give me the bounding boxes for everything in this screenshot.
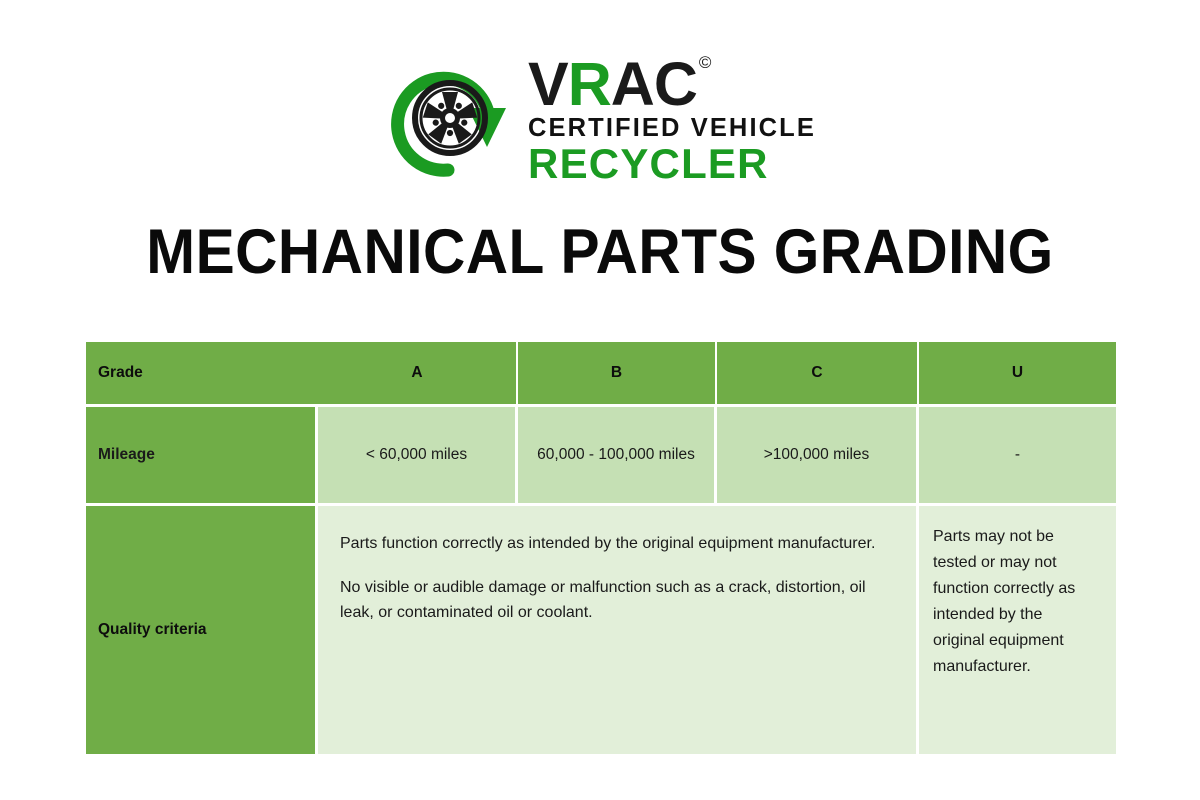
logo-wordmark-v: V [528,50,568,118]
quality-cell-u: Parts may not be tested or may not funct… [919,503,1116,754]
quality-paragraph-2: No visible or audible damage or malfunct… [340,576,894,625]
logo-wordmark-ac: AC [611,50,697,118]
header-cell-b: B [518,342,717,404]
mileage-cell-c: >100,000 miles [717,404,919,503]
logo-subtitle: RECYCLER [528,143,816,186]
row-label-mileage: Mileage [86,404,318,503]
table-row-mileage: Mileage < 60,000 miles 60,000 - 100,000 … [86,404,1116,503]
quality-paragraph-1: Parts function correctly as intended by … [340,532,894,556]
quality-cell-abc: Parts function correctly as intended by … [318,503,919,754]
brand-logo: VRAC© CERTIFIED VEHICLE RECYCLER [0,52,1200,186]
mileage-cell-b: 60,000 - 100,000 miles [518,404,717,503]
header-cell-c: C [717,342,919,404]
logo-wordmark-r: R [568,50,611,118]
header-cell-grade: Grade [86,342,318,404]
header-cell-u: U [919,342,1116,404]
logo-wordmark: VRAC© [528,56,816,114]
table-header-row: Grade A B C U [86,342,1116,404]
logo-tagline: CERTIFIED VEHICLE [528,115,816,142]
recycling-arrow-wheel-icon [384,52,514,184]
copyright-icon: © [699,53,711,72]
logo-inner: VRAC© CERTIFIED VEHICLE RECYCLER [384,52,816,186]
mechanical-parts-grading-table: Grade A B C U Mileage < 60,000 miles 60,… [86,342,1116,754]
table-row-quality-criteria: Quality criteria Parts function correctl… [86,503,1116,754]
logo-text-group: VRAC© CERTIFIED VEHICLE RECYCLER [528,52,816,186]
mileage-cell-a: < 60,000 miles [318,404,518,503]
row-label-quality-criteria: Quality criteria [86,503,318,754]
page-title: MECHANICAL PARTS GRADING [42,216,1158,288]
header-cell-a: A [318,342,518,404]
mileage-cell-u: - [919,404,1116,503]
